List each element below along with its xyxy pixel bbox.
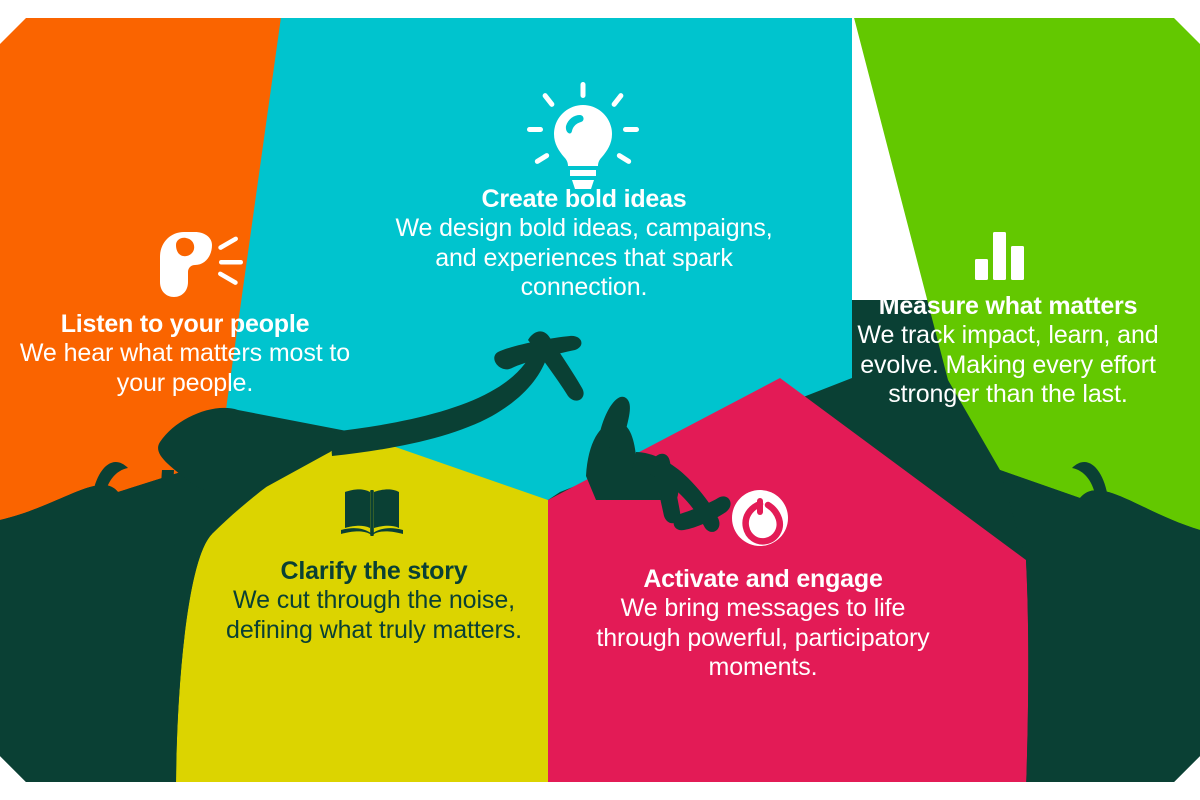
panel-body-listen: We hear what matters most to your people… — [14, 339, 356, 398]
panel-text-clarify: Clarify the story We cut through the noi… — [200, 557, 548, 645]
panel-body-clarify: We cut through the noise, defining what … — [200, 586, 548, 645]
panel-title-measure: Measure what matters — [828, 292, 1188, 321]
panel-title-create: Create bold ideas — [385, 185, 783, 214]
panel-text-activate: Activate and engage We bring messages to… — [585, 565, 941, 682]
infographic-canvas: Listen to your people We hear what matte… — [0, 0, 1200, 800]
panel-title-activate: Activate and engage — [585, 565, 941, 594]
panel-text-listen: Listen to your people We hear what matte… — [14, 310, 356, 398]
panel-body-measure: We track impact, learn, and evolve. Maki… — [828, 321, 1188, 409]
panel-text-create: Create bold ideas We design bold ideas, … — [385, 185, 783, 302]
panel-body-create: We design bold ideas, campaigns, and exp… — [385, 214, 783, 302]
panel-title-clarify: Clarify the story — [200, 557, 548, 586]
panel-body-activate: We bring messages to life through powerf… — [585, 594, 941, 682]
panel-text-measure: Measure what matters We track impact, le… — [828, 292, 1188, 409]
open-book-icon — [341, 489, 403, 536]
power-button-icon — [732, 490, 788, 546]
panel-title-listen: Listen to your people — [14, 310, 356, 339]
